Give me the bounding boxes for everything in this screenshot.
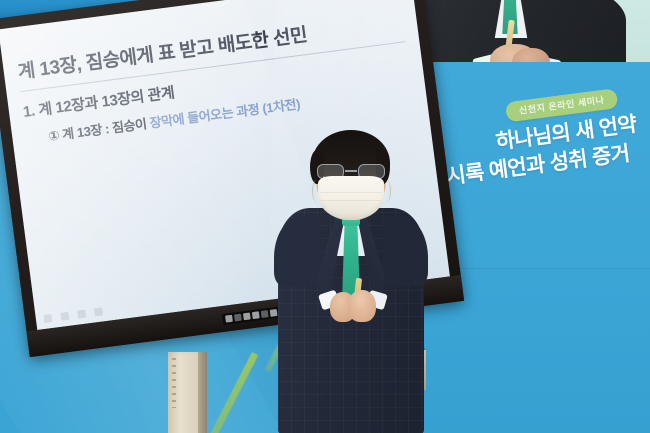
shoulder-left <box>274 216 320 286</box>
up-button-icon[interactable] <box>252 311 260 319</box>
taskbar-icon-4 <box>94 307 103 316</box>
glasses-bridge <box>345 170 357 172</box>
monitor-stand-edge <box>198 352 207 433</box>
press-photo-scene: 신천지 온라인 세미나 하나님의 새 언약 계시록 예언과 성취 증거 계 13… <box>0 0 650 433</box>
mask-fold-2 <box>321 200 381 201</box>
slide-bullet-2-prefix: ① 계 13장 : 짐승이 <box>48 116 151 144</box>
speaker <box>276 132 426 433</box>
menu-button-icon[interactable] <box>243 312 251 320</box>
slide-taskbar-icons <box>43 307 103 323</box>
taskbar-icon-1 <box>43 314 52 323</box>
source-button-icon[interactable] <box>234 314 242 322</box>
taskbar-icon-3 <box>77 310 86 319</box>
down-button-icon[interactable] <box>261 310 269 318</box>
hand-right <box>348 290 376 322</box>
taskbar-icon-2 <box>60 312 69 321</box>
mask-fold-1 <box>320 192 382 193</box>
power-button-icon[interactable] <box>225 315 233 323</box>
shoulder-right <box>382 216 428 286</box>
monitor-stand-vents <box>172 358 176 408</box>
